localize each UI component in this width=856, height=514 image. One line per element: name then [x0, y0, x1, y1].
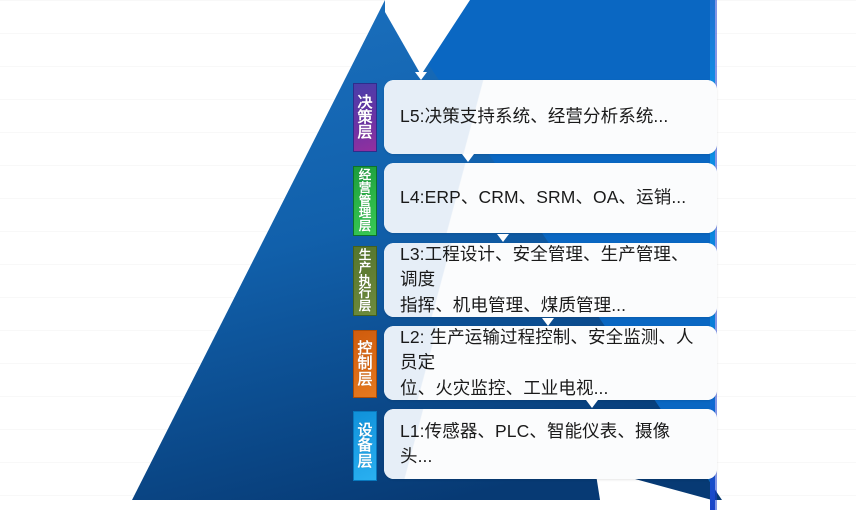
layer-tab-l1-char-3: 层	[357, 454, 372, 469]
layer-card-l2-text: L2: 生产运输过程控制、安全监测、人员定 位、火灾监控、工业电视...	[400, 326, 701, 400]
layer-tab-l3-char-5: 层	[359, 300, 372, 313]
layer-tab-l3-char-1: 生	[359, 249, 372, 262]
separator-marker-1	[462, 154, 474, 162]
layer-card-l5-text: L5:决策支持系统、经营分析系统...	[400, 104, 668, 129]
layer-tab-l1[interactable]: 设 备 层	[353, 411, 377, 481]
layer-tab-l4-char-5: 层	[359, 220, 372, 233]
layer-tab-l1-char-2: 备	[357, 438, 372, 453]
separator-marker-apex	[415, 72, 427, 80]
layer-card-l4[interactable]: L4:ERP、CRM、SRM、OA、运销...	[384, 163, 717, 233]
separator-marker-3	[542, 318, 554, 326]
layer-tab-l4-char-1: 经	[359, 169, 372, 182]
layer-card-l4-text: L4:ERP、CRM、SRM、OA、运销...	[400, 185, 686, 210]
layer-tab-l4[interactable]: 经 营 管 理 层	[353, 166, 377, 236]
layer-tab-l5-char-3: 层	[357, 125, 372, 140]
layer-card-l5[interactable]: L5:决策支持系统、经营分析系统...	[384, 80, 717, 154]
layer-tab-l3-char-2: 产	[359, 262, 372, 275]
layer-card-l3-text: L3:工程设计、安全管理、生产管理、调度 指挥、机电管理、煤质管理...	[400, 243, 701, 317]
separator-marker-2	[497, 234, 509, 242]
diagram-canvas: 决 策 层 L5:决策支持系统、经营分析系统... 经 营 管 理 层 L4:E…	[0, 0, 856, 514]
layer-tab-l5[interactable]: 决 策 层	[353, 83, 377, 152]
layer-card-l2[interactable]: L2: 生产运输过程控制、安全监测、人员定 位、火灾监控、工业电视...	[384, 326, 717, 400]
layer-card-l1[interactable]: L1:传感器、PLC、智能仪表、摄像头...	[384, 409, 717, 479]
layer-card-l1-text: L1:传感器、PLC、智能仪表、摄像头...	[400, 419, 701, 470]
layer-tab-l4-char-2: 营	[359, 182, 372, 195]
layer-tab-l5-char-2: 策	[357, 110, 372, 125]
layer-tab-l2-char-2: 制	[357, 356, 372, 371]
layer-tab-l3[interactable]: 生 产 执 行 层	[353, 246, 377, 316]
layer-card-l3[interactable]: L3:工程设计、安全管理、生产管理、调度 指挥、机电管理、煤质管理...	[384, 243, 717, 317]
layer-tab-l2[interactable]: 控 制 层	[353, 330, 377, 398]
separator-marker-4	[586, 400, 598, 408]
layer-tab-l5-char-1: 决	[357, 95, 372, 110]
layer-tab-l2-char-3: 层	[357, 372, 372, 387]
